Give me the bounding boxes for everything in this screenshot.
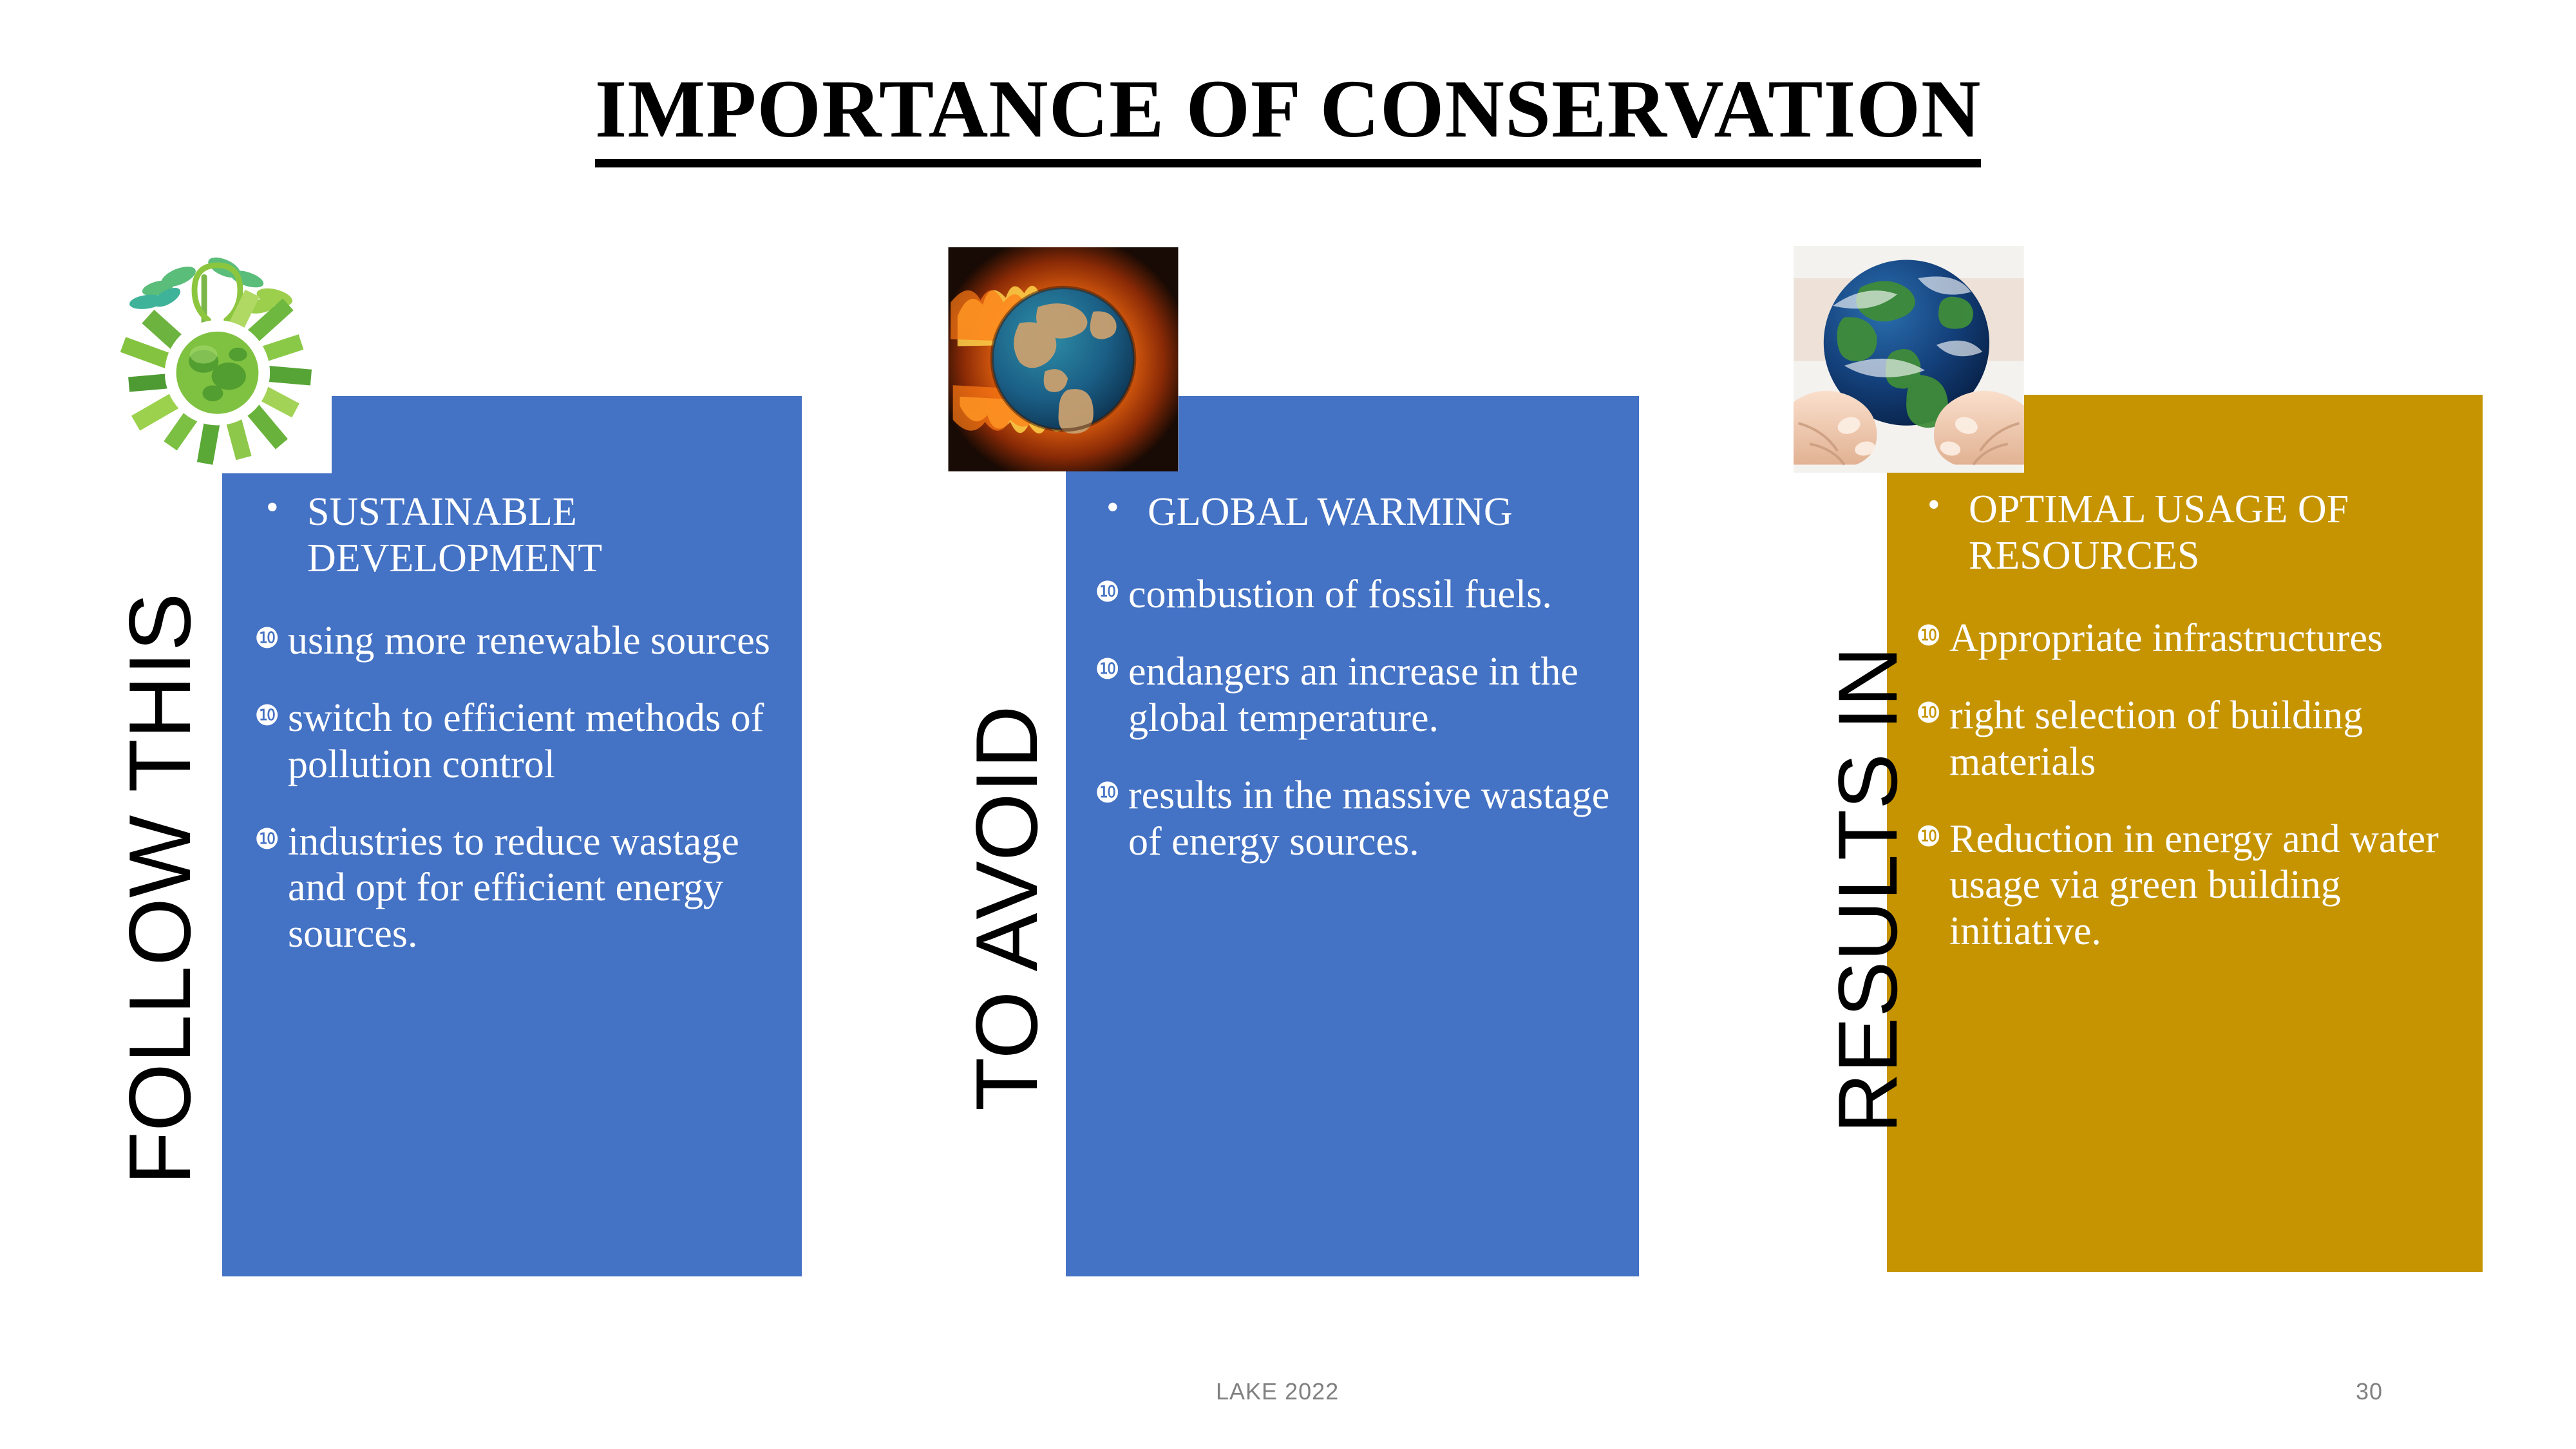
heading-text: SUSTAINABLE DEVELOPMENT (307, 490, 602, 580)
list-item: ❿ using more renewable sources (254, 618, 776, 665)
page-number: 30 (2356, 1378, 2383, 1405)
list-item: ❿ results in the massive wastage of ener… (1095, 773, 1610, 866)
list-item-text: right selection of building materials (1949, 694, 2363, 784)
bullet-dot-icon: • (266, 487, 279, 529)
page-title-text: IMPORTANCE OF CONSERVATION (595, 68, 1982, 167)
panel-body-to-avoid: • GLOBAL WARMING ❿ combustion of fossil … (1095, 489, 1610, 896)
panel-body-results-in: • OPTIMAL USAGE OF RESOURCES ❿ Appropria… (1916, 487, 2457, 986)
list-item: ❿ Reduction in energy and water usage vi… (1916, 817, 2457, 956)
page-title: IMPORTANCE OF CONSERVATION (0, 62, 2576, 167)
list-item: ❿ right selection of building materials (1916, 693, 2457, 786)
list-item-text: using more renewable sources (288, 619, 770, 663)
heading-global-warming: • GLOBAL WARMING (1095, 489, 1610, 536)
list-item-text: endangers an increase in the global temp… (1128, 650, 1578, 740)
heading-optimal-usage: • OPTIMAL USAGE OF RESOURCES (1916, 487, 2457, 580)
panel-body-follow-this: • SUSTAINABLE DEVELOPMENT ❿ using more r… (254, 489, 776, 989)
list-item-text: Reduction in energy and water usage via … (1949, 817, 2439, 954)
list-item: ❿ industries to reduce wastage and opt f… (254, 819, 776, 958)
list-item-text: results in the massive wastage of energy… (1128, 773, 1609, 864)
side-label-results-in: RESULTS IN (1826, 647, 1909, 1133)
list-item: ❿ Appropriate infrastructures (1916, 616, 2457, 662)
heading-text: GLOBAL WARMING (1148, 490, 1513, 534)
footer-label: LAKE 2022 (1216, 1378, 1339, 1405)
list-item: ❿ switch to efficient methods of polluti… (254, 696, 776, 788)
bullet-dot-icon: • (1927, 484, 1940, 526)
green-eco-city-globe-image (103, 245, 332, 473)
circled-ten-icon: ❿ (254, 820, 279, 858)
side-label-follow-this: FOLLOW THIS (116, 593, 204, 1185)
bullet-dot-icon: • (1106, 487, 1119, 529)
heading-sustainable-development: • SUSTAINABLE DEVELOPMENT (254, 489, 776, 582)
list-item-text: combustion of fossil fuels. (1128, 573, 1552, 616)
side-label-to-avoid: TO AVOID (963, 705, 1050, 1111)
list-item: ❿ endangers an increase in the global te… (1095, 649, 1610, 742)
circled-ten-icon: ❿ (1095, 774, 1120, 812)
circled-ten-icon: ❿ (254, 697, 279, 735)
slide-canvas: IMPORTANCE OF CONSERVATION FOLLOW THIS (0, 0, 2576, 1449)
list-item-text: switch to efficient methods of pollution… (288, 696, 764, 786)
heading-text: OPTIMAL USAGE OF RESOURCES (1969, 488, 2349, 578)
circled-ten-icon: ❿ (1095, 650, 1120, 688)
circled-ten-icon: ❿ (1916, 617, 1941, 655)
circled-ten-icon: ❿ (1916, 694, 1941, 732)
burning-earth-image (948, 247, 1179, 471)
list-item-text: industries to reduce wastage and opt for… (288, 820, 739, 956)
circled-ten-icon: ❿ (254, 620, 279, 658)
list-item: ❿ combustion of fossil fuels. (1095, 572, 1610, 618)
circled-ten-icon: ❿ (1916, 818, 1941, 856)
circled-ten-icon: ❿ (1095, 573, 1120, 611)
list-item-text: Appropriate infrastructures (1949, 616, 2383, 660)
earth-in-hands-image (1794, 246, 2024, 473)
